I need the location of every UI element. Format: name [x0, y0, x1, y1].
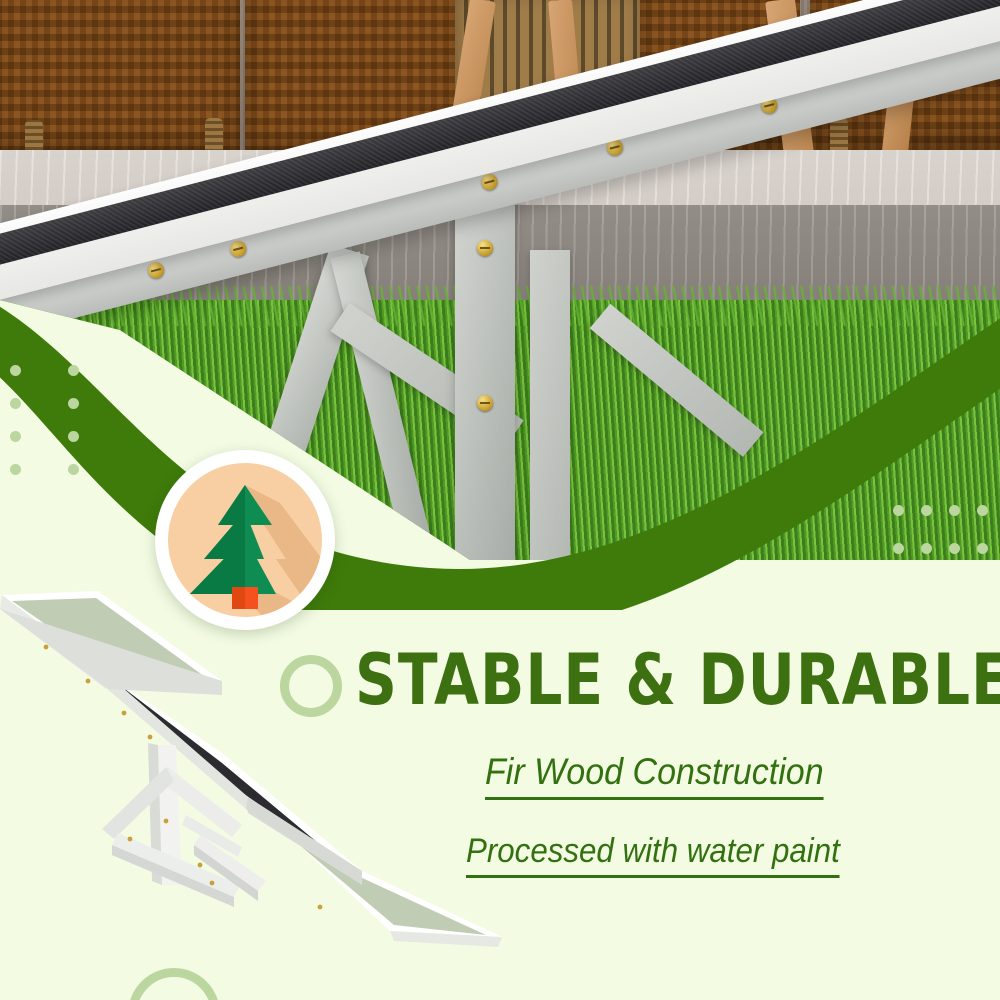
hero-photo — [0, 0, 1000, 570]
decor-dot — [10, 398, 21, 409]
subtitle-fir-wood: Fir Wood Construction — [485, 751, 824, 800]
decor-dot — [949, 505, 960, 516]
brass-screw-icon — [480, 172, 499, 191]
seesaw-a-frame-base — [102, 743, 266, 907]
brass-screw-icon — [477, 240, 493, 256]
decor-dot — [68, 398, 79, 409]
decor-dot — [977, 505, 988, 516]
decor-dot — [68, 431, 79, 442]
support-post — [530, 250, 570, 570]
decor-dot — [68, 464, 79, 475]
dot-grid-right — [893, 505, 1000, 581]
brass-screw-icon — [228, 239, 247, 258]
headline: STABLE & DURABLE — [355, 645, 976, 716]
brass-screw-icon — [146, 260, 165, 279]
decor-dot — [977, 543, 988, 554]
decor-dot — [68, 365, 79, 376]
decor-dot — [10, 365, 21, 376]
photo-scene — [0, 0, 1000, 570]
banner-canvas: STABLE & DURABLE Fir Wood Construction P… — [0, 0, 1000, 1000]
brass-screw-icon — [477, 395, 493, 411]
subtitle-water-paint: Processed with water paint — [466, 832, 840, 878]
decor-dot — [10, 464, 21, 475]
subtitle-row-2: Processed with water paint — [355, 832, 983, 878]
decor-dot — [10, 431, 21, 442]
subtitle-row-1: Fir Wood Construction — [355, 751, 983, 800]
decor-dot — [949, 543, 960, 554]
decor-dot — [921, 505, 932, 516]
decor-dot — [893, 505, 904, 516]
decor-dot — [893, 543, 904, 554]
dot-grid-left — [10, 365, 126, 497]
seesaw-left-arm — [0, 591, 222, 695]
text-block: STABLE & DURABLE Fir Wood Construction P… — [355, 645, 995, 878]
decor-dot — [921, 543, 932, 554]
